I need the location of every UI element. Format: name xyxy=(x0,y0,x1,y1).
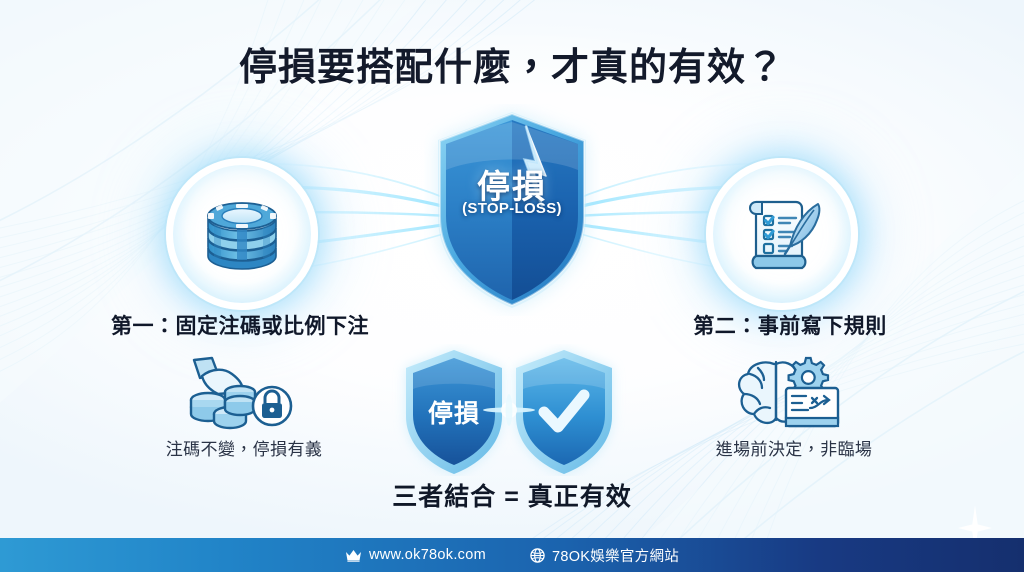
globe-icon xyxy=(530,548,545,563)
crown-icon xyxy=(345,549,362,562)
step-one-label: 第一：固定注碼或比例下注 xyxy=(30,310,450,340)
page-title: 停損要搭配什麼，才真的有效？ xyxy=(0,36,1024,91)
step-two-label: 第二：事前寫下規則 xyxy=(580,310,1000,340)
hand-placing-chips-lock-icon xyxy=(178,356,298,430)
dual-shield-left-text: 停損 xyxy=(428,399,480,428)
step-two-caption: 進場前決定，非臨場 xyxy=(629,435,959,460)
footer-bar: www.ok78ok.com 78OK娛樂官方網站 xyxy=(0,538,1024,572)
combined-shields-graphic: 停損 xyxy=(392,344,632,476)
footer-brand[interactable]: 78OK娛樂官方網站 xyxy=(530,545,679,566)
checklist-scroll-quill-icon xyxy=(734,186,830,282)
step-two-icon-badge xyxy=(706,158,858,310)
infographic-canvas: 停損要搭配什麼，才真的有效？ xyxy=(0,0,1024,572)
poker-chips-stack-icon xyxy=(194,186,290,282)
footer-website[interactable]: www.ok78ok.com xyxy=(345,547,486,563)
stop-loss-shield: 停損 (STOP-LOSS) xyxy=(424,104,600,316)
step-one-caption: 注碼不變，停損有義 xyxy=(79,435,409,460)
footer-brand-text: 78OK娛樂官方網站 xyxy=(552,545,679,566)
step-one-icon-badge xyxy=(166,158,318,310)
conclusion-text: 三者結合 = 真正有效 xyxy=(302,477,722,513)
brain-gear-plan-icon xyxy=(728,356,848,430)
footer-website-text: www.ok78ok.com xyxy=(369,547,486,563)
